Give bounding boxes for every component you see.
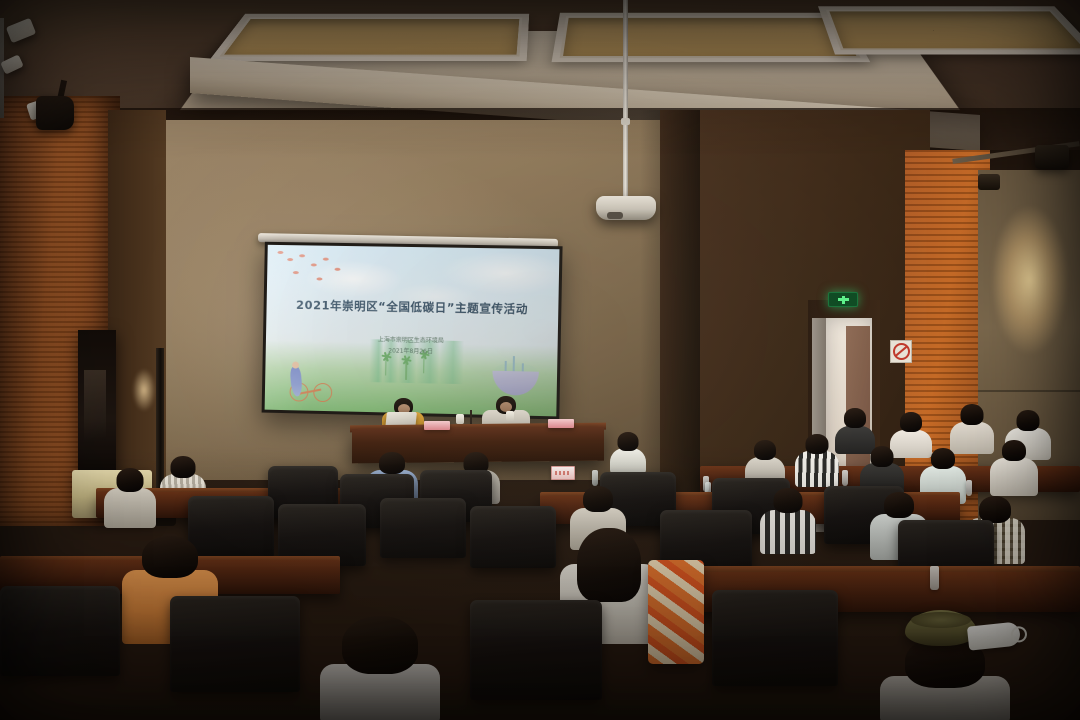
water-cup <box>456 414 464 424</box>
auditorium-seat[interactable] <box>470 600 602 700</box>
slide-earth-globe <box>493 359 540 396</box>
attendee <box>610 432 646 472</box>
auditorium-seat[interactable] <box>380 498 466 558</box>
table-microphone <box>470 410 472 424</box>
auditorium-seat[interactable] <box>470 506 556 568</box>
ceiling-speaker <box>36 96 74 130</box>
water-cup <box>506 411 514 421</box>
water-bottle <box>966 480 972 496</box>
name-placard <box>548 419 574 428</box>
track-light-icon <box>1035 145 1069 169</box>
green-hat <box>905 610 977 646</box>
water-bottle <box>930 566 939 590</box>
attendee-striped <box>795 434 839 486</box>
attendee-front <box>320 616 440 720</box>
water-bottle <box>842 470 848 486</box>
auditorium-seat[interactable] <box>170 596 300 692</box>
attendee <box>950 404 994 452</box>
ceiling-coffer-panel <box>818 6 1080 54</box>
track-light-icon <box>978 174 1000 190</box>
patterned-bag <box>648 560 704 664</box>
ceiling-projector <box>596 196 656 220</box>
slide-leaves-decoration <box>273 249 357 294</box>
name-placard <box>551 466 575 480</box>
projector-mount-pole <box>623 0 628 196</box>
projector-lens <box>607 212 623 219</box>
wall-spotlight-glow <box>975 175 1080 390</box>
projection-screen: 2021年崇明区“全国低碳日”主题宣传活动 上海市崇明区生态环境局 2021年8… <box>262 242 563 420</box>
attendee-striped <box>760 488 816 552</box>
ceiling-coffer-panel <box>209 14 529 61</box>
no-smoking-icon <box>890 340 912 363</box>
attendee <box>990 440 1038 494</box>
panel-seam <box>978 390 1080 392</box>
name-placard <box>424 421 450 430</box>
face-mask <box>967 621 1021 650</box>
auditorium-seat[interactable] <box>0 586 120 676</box>
exit-sign <box>828 292 858 307</box>
conference-hall-photo: 2021年崇明区“全国低碳日”主题宣传活动 上海市崇明区生态环境局 2021年8… <box>0 0 1080 720</box>
water-bottle <box>592 470 598 486</box>
projector-pole-collar <box>621 118 630 125</box>
slide-cyclist-head <box>292 362 299 369</box>
auditorium-seat[interactable] <box>712 590 838 686</box>
attendee <box>104 468 156 526</box>
wall-sconce-glow <box>128 360 158 416</box>
wall-corner-shadow <box>640 110 700 530</box>
attendee-front-right <box>880 636 1010 720</box>
cabinet-glass-door[interactable] <box>84 370 106 440</box>
